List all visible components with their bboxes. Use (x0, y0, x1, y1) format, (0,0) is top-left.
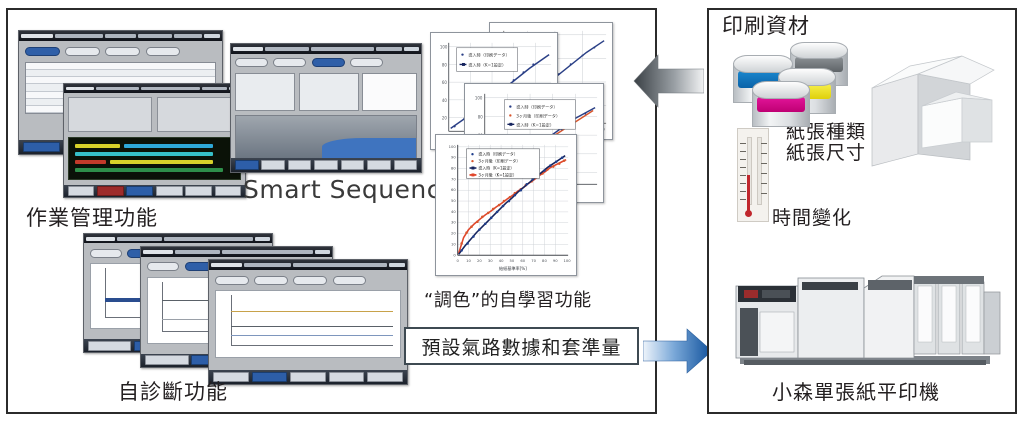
svg-text:100: 100 (475, 96, 483, 101)
titlebar-text (55, 34, 103, 38)
window-body (64, 93, 245, 185)
logo-icon (86, 237, 115, 241)
caption-smart-sequence: Smart Sequence (243, 175, 457, 204)
svg-text:80: 80 (451, 167, 456, 171)
svg-text:100: 100 (440, 45, 448, 50)
ink-can-magenta (752, 81, 810, 127)
titlebar-spacer (222, 250, 313, 254)
tab-strip[interactable] (215, 276, 401, 285)
bottom-button-bar[interactable] (231, 158, 421, 172)
thermometer-mercury (747, 175, 750, 211)
titlebar-text (105, 34, 137, 38)
nav-button[interactable] (88, 341, 131, 351)
settings-group-left[interactable] (68, 97, 152, 132)
tab-active[interactable] (25, 47, 59, 56)
window-titlebar (209, 260, 407, 270)
nav-button[interactable] (367, 160, 391, 171)
titlebar-spacer (311, 47, 374, 51)
thermometer-tube-right (757, 137, 762, 205)
diagram-canvas: 作業管理功能 (0, 0, 1024, 422)
svg-text:70: 70 (451, 177, 456, 181)
titlebar-status (174, 34, 202, 38)
caption-materials: 印刷資材 (722, 10, 810, 40)
svg-text:40: 40 (442, 98, 447, 103)
svg-text:導入時（K=1設定）: 導入時（K=1設定） (516, 121, 554, 127)
nav-button[interactable] (185, 186, 212, 196)
svg-text:60: 60 (451, 188, 456, 192)
sequence-button-matrix[interactable] (235, 115, 417, 159)
nav-button[interactable] (215, 186, 242, 196)
titlebar-spacer (138, 34, 172, 38)
titlebar-text (96, 87, 138, 91)
window-titlebar (19, 31, 222, 41)
titlebar-text (117, 237, 161, 241)
tab-strip[interactable] (25, 47, 216, 56)
nav-button[interactable] (341, 160, 365, 171)
tab-strip[interactable] (235, 58, 417, 67)
nav-button[interactable] (290, 372, 326, 382)
titlebar-spacer (164, 237, 254, 241)
titlebar-text (244, 263, 291, 267)
series-line-amber (231, 311, 393, 312)
caption-self-diagnosis: 自診斷功能 (118, 376, 228, 406)
sequence-step-group-b[interactable] (299, 73, 359, 111)
output-arrow-right (643, 328, 713, 374)
y-axis (105, 268, 106, 318)
titlebar-spacer (141, 87, 200, 91)
close-icon[interactable] (204, 34, 220, 38)
window-titlebar (84, 234, 272, 243)
svg-text:20: 20 (451, 232, 456, 236)
svg-text:70: 70 (531, 259, 536, 263)
svg-text:60: 60 (520, 259, 525, 263)
titlebar-status (202, 87, 227, 91)
ink-key-profile-plot (68, 137, 242, 179)
svg-text:80: 80 (442, 62, 447, 67)
y-axis (162, 282, 163, 333)
chart-front: 導入時（印刷データ） 3ヶ月後（印刷データ） 導入時（K=1設定） 3ヶ月後（K… (436, 135, 576, 275)
hmi-job-detail-window[interactable] (63, 83, 246, 198)
plot-bar (75, 152, 212, 156)
svg-text:10: 10 (466, 259, 471, 263)
tab[interactable] (147, 262, 180, 271)
nav-button[interactable] (145, 355, 189, 365)
window-body (209, 270, 407, 370)
x-axis (231, 345, 393, 346)
preset-data-box: 預設氣路數據和套準量 (404, 327, 639, 365)
logo-icon (21, 34, 53, 38)
svg-text:50: 50 (510, 259, 515, 263)
logo-icon (233, 47, 263, 51)
thermometer-icon (737, 128, 769, 222)
printing-press-illustration (728, 262, 1004, 374)
svg-text:10: 10 (451, 242, 456, 246)
nav-button[interactable] (235, 160, 259, 171)
tab[interactable] (105, 47, 139, 56)
logo-icon (211, 263, 242, 267)
svg-text:導入時（印刷データ）: 導入時（印刷データ） (468, 52, 509, 58)
svg-text:80: 80 (478, 114, 484, 119)
tab[interactable] (235, 58, 268, 67)
logo-icon (66, 87, 94, 91)
nav-button[interactable] (329, 372, 365, 382)
svg-text:100: 100 (449, 145, 457, 149)
window-titlebar (231, 44, 421, 54)
nav-button[interactable] (367, 372, 403, 382)
decor-wave (322, 138, 416, 158)
close-icon[interactable] (389, 263, 405, 267)
titlebar-text (265, 47, 310, 51)
plot-bar (110, 160, 213, 164)
tab[interactable] (254, 276, 288, 285)
window-titlebar (141, 247, 332, 257)
svg-text:20: 20 (442, 116, 447, 121)
svg-text:3ヶ月後（印刷データ）: 3ヶ月後（印刷データ） (478, 159, 520, 164)
tab[interactable] (333, 276, 367, 285)
titlebar-text (175, 250, 220, 254)
svg-text:90: 90 (451, 156, 456, 160)
close-icon[interactable] (255, 237, 270, 241)
caption-press: 小森單張紙平印機 (772, 376, 940, 405)
diagnosis-multi-series-chart (215, 290, 401, 358)
svg-text:導入時（印刷データ）: 導入時（印刷データ） (478, 152, 517, 157)
svg-text:40: 40 (499, 259, 504, 263)
plot-bar (75, 160, 106, 164)
plot-bar (75, 168, 223, 172)
titlebar-spacer (293, 263, 388, 267)
logo-icon (143, 250, 173, 254)
tab[interactable] (65, 47, 99, 56)
nav-button[interactable] (156, 186, 183, 196)
svg-text:導入時（印刷データ）: 導入時（印刷データ） (516, 104, 557, 110)
settings-group-right[interactable] (157, 97, 241, 132)
bottom-button-bar[interactable] (64, 185, 245, 197)
can-lid (790, 42, 848, 59)
svg-text:3ヶ月後（K=1設定）: 3ヶ月後（K=1設定） (478, 172, 516, 177)
svg-text:60: 60 (442, 80, 447, 85)
caption-paper: 紙張種類 紙張尺寸 (786, 122, 866, 165)
titlebar-status (376, 47, 402, 51)
y-axis (231, 295, 232, 346)
tab[interactable] (90, 249, 122, 258)
nav-button[interactable] (394, 160, 418, 171)
svg-text:30: 30 (451, 221, 456, 225)
window-titlebar (64, 84, 245, 93)
nav-button[interactable] (23, 142, 60, 152)
nav-button[interactable] (288, 160, 312, 171)
can-lid (752, 81, 810, 99)
nav-button[interactable] (97, 186, 124, 196)
tab[interactable] (350, 58, 383, 67)
sequence-step-group-a[interactable] (235, 73, 295, 111)
svg-text:30: 30 (488, 259, 493, 263)
tab[interactable] (215, 276, 249, 285)
tab[interactable] (273, 58, 306, 67)
svg-text:給紙基準率[%]: 給紙基準率[%] (499, 265, 527, 271)
nav-button[interactable] (126, 186, 153, 196)
paper-boxes-illustration (866, 48, 998, 170)
tab[interactable] (293, 276, 327, 285)
series-line-blue (231, 335, 393, 336)
feedback-arrow-left (632, 52, 704, 110)
chart-sheet-front: 導入時（印刷データ） 3ヶ月後（印刷データ） 導入時（K=1設定） 3ヶ月後（K… (435, 134, 577, 276)
tab[interactable] (146, 47, 180, 56)
svg-text:20: 20 (477, 259, 482, 263)
sequence-preview[interactable] (362, 73, 417, 111)
svg-text:導入時（K=1設定）: 導入時（K=1設定） (468, 61, 506, 67)
close-icon[interactable] (404, 47, 419, 51)
caption-job-management: 作業管理功能 (26, 202, 158, 232)
series-line-dark (231, 326, 393, 327)
plot-bar (124, 144, 213, 148)
nav-button[interactable] (314, 160, 338, 171)
svg-text:導入時（K=1設定）: 導入時（K=1設定） (478, 166, 514, 171)
thermometer-bulb (745, 210, 752, 217)
svg-text:90: 90 (553, 259, 558, 263)
nav-button[interactable] (68, 186, 95, 196)
nav-button[interactable] (261, 160, 285, 171)
table-row[interactable] (26, 70, 215, 77)
svg-text:80: 80 (542, 259, 547, 263)
svg-text:40: 40 (451, 210, 456, 214)
svg-text:50: 50 (451, 199, 456, 203)
hmi-smart-sequence-window[interactable] (230, 43, 422, 173)
bottom-button-bar[interactable] (209, 370, 407, 384)
window-body (231, 54, 421, 158)
caption-color-self-learning: “調色”的自學習功能 (424, 286, 592, 312)
can-label-band (757, 97, 806, 113)
caption-paper-size: 紙張尺寸 (786, 143, 866, 164)
preset-data-label: 預設氣路數據和套準量 (421, 333, 621, 360)
svg-text:3ヶ月後（印刷データ）: 3ヶ月後（印刷データ） (516, 112, 560, 118)
caption-time-change: 時間變化 (772, 203, 852, 230)
table-row[interactable] (26, 63, 215, 70)
nav-button[interactable] (252, 372, 288, 382)
close-icon[interactable] (315, 250, 330, 254)
plot-bar (75, 144, 120, 148)
tab-active[interactable] (312, 58, 345, 67)
hmi-diagnosis-window-3[interactable] (208, 259, 408, 385)
svg-text:100: 100 (564, 259, 572, 263)
